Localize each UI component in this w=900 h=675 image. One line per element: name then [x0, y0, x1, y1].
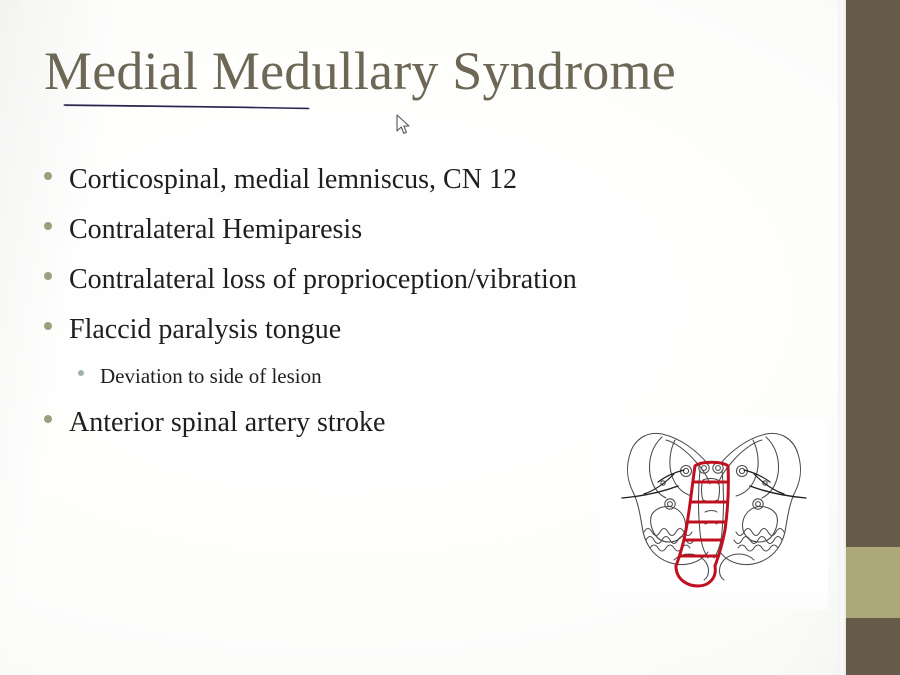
list-item: Contralateral loss of proprioception/vib…: [44, 258, 784, 302]
slide-title: Medial Medullary Syndrome: [44, 44, 676, 98]
sidebar-gutter: [838, 0, 846, 675]
list-item-label: Contralateral Hemiparesis: [69, 208, 362, 252]
presentation-slide: Medial Medullary Syndrome Corticospinal,…: [0, 0, 900, 675]
sidebar-band-accent: [846, 547, 900, 618]
sub-list-item-label: Deviation to side of lesion: [100, 358, 322, 395]
medulla-diagram-svg: [600, 420, 828, 610]
bullet-dot-icon: [44, 222, 52, 230]
list-item-label: Contralateral loss of proprioception/vib…: [69, 258, 577, 302]
list-item: Corticospinal, medial lemniscus, CN 12: [44, 158, 784, 202]
list-item-label: Anterior spinal artery stroke: [69, 401, 385, 445]
bullet-dot-icon: [44, 322, 52, 330]
title-underline: [64, 104, 309, 109]
bullet-dot-icon: [44, 172, 52, 180]
sub-list-item: Deviation to side of lesion: [44, 358, 784, 395]
bullet-dot-icon: [44, 415, 52, 423]
sidebar-band-top: [846, 0, 900, 547]
list-item-label: Flaccid paralysis tongue: [69, 308, 341, 352]
bullet-dot-icon: [44, 272, 52, 280]
medulla-outline-group: [622, 433, 806, 580]
sub-bullet-dot-icon: [78, 370, 84, 376]
list-item-label: Corticospinal, medial lemniscus, CN 12: [69, 158, 517, 202]
list-item: Contralateral Hemiparesis: [44, 208, 784, 252]
decorative-right-sidebar: [846, 0, 900, 675]
medulla-cross-section-diagram: [600, 420, 828, 610]
list-item: Flaccid paralysis tongue: [44, 308, 784, 352]
bullet-list: Corticospinal, medial lemniscus, CN 12 C…: [44, 158, 784, 451]
lesion-highlight: [676, 462, 728, 586]
sidebar-band-bottom: [846, 618, 900, 675]
